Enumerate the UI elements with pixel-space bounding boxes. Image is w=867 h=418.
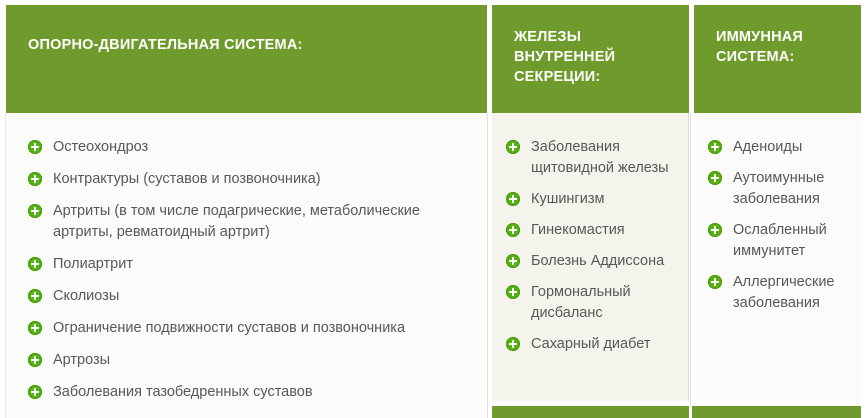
list-item-label: Контрактуры (суставов и позвоночника) [53, 171, 321, 187]
plus-circle-icon [28, 172, 42, 186]
list-item: Кушингизм [506, 189, 678, 210]
list-item-label: Ослабленный иммунитет [733, 222, 827, 259]
bottom-bar-divider [689, 406, 692, 418]
bottom-accent-bar [492, 406, 861, 418]
list-item-label: Артрозы [53, 352, 110, 368]
column-header-immune: ИММУННАЯ СИСТЕМА: [694, 5, 861, 113]
condition-list: Заболевания щитовидной железы Кушингизм … [506, 137, 678, 355]
list-item: Болезнь Аддиссона [506, 251, 678, 272]
list-item-label: Сколиозы [53, 288, 119, 304]
plus-circle-icon [506, 140, 520, 154]
list-item: Остеохондроз [28, 137, 473, 158]
condition-list: Остеохондроз Контрактуры (суставов и поз… [28, 137, 473, 403]
column-divider [487, 113, 488, 418]
list-item-label: Заболевания тазобедренных суставов [53, 384, 313, 400]
plus-circle-icon [506, 223, 520, 237]
column-header-endocrine: ЖЕЛЕЗЫ ВНУТРЕННЕЙ СЕКРЕЦИИ: [492, 5, 689, 113]
list-item-label: Гинекомастия [531, 222, 625, 238]
plus-circle-icon [28, 353, 42, 367]
plus-circle-icon [506, 285, 520, 299]
list-item: Сахарный диабет [506, 334, 678, 355]
list-item-label: Аллергические заболевания [733, 274, 835, 311]
list-item-label: Сахарный диабет [531, 336, 650, 352]
systems-table: ОПОРНО-ДВИГАТЕЛЬНАЯ СИСТЕМА: ЖЕЛЕЗЫ ВНУТ… [0, 0, 867, 418]
plus-circle-icon [708, 275, 722, 289]
list-item-label: Артриты (в том числе подагрические, мета… [53, 203, 420, 240]
column-body-endocrine: Заболевания щитовидной железы Кушингизм … [492, 113, 689, 401]
column-divider [690, 113, 691, 418]
column-body-musculoskeletal: Остеохондроз Контрактуры (суставов и поз… [6, 113, 487, 418]
plus-circle-icon [708, 223, 722, 237]
table-body-row: Остеохондроз Контрактуры (суставов и поз… [0, 113, 867, 418]
list-item-label: Ограничение подвижности суставов и позво… [53, 320, 405, 336]
list-item: Контрактуры (суставов и позвоночника) [28, 169, 473, 190]
list-item: Артриты (в том числе подагрические, мета… [28, 201, 473, 243]
plus-circle-icon [506, 192, 520, 206]
plus-circle-icon [28, 140, 42, 154]
list-item-label: Аденоиды [733, 139, 802, 155]
list-item: Ограничение подвижности суставов и позво… [28, 318, 473, 339]
plus-circle-icon [28, 321, 42, 335]
list-item-label: Гормональный дисбаланс [531, 284, 631, 321]
list-item-label: Заболевания щитовидной железы [531, 139, 669, 176]
column-header-title: ОПОРНО-ДВИГАТЕЛЬНАЯ СИСТЕМА: [28, 27, 469, 55]
column-body-immune: Аденоиды Аутоимунные заболевания Ослабле… [694, 113, 861, 401]
list-item: Артрозы [28, 350, 473, 371]
list-item-label: Кушингизм [531, 191, 604, 207]
list-item-label: Болезнь Аддиссона [531, 253, 664, 269]
plus-circle-icon [28, 385, 42, 399]
list-item: Полиартрит [28, 254, 473, 275]
plus-circle-icon [28, 204, 42, 218]
list-item: Заболевания щитовидной железы [506, 137, 678, 179]
list-item: Аутоимунные заболевания [708, 168, 853, 210]
list-item: Аллергические заболевания [708, 272, 853, 314]
list-item: Заболевания тазобедренных суставов [28, 382, 473, 403]
plus-circle-icon [708, 171, 722, 185]
list-item: Сколиозы [28, 286, 473, 307]
table-header-row: ОПОРНО-ДВИГАТЕЛЬНАЯ СИСТЕМА: ЖЕЛЕЗЫ ВНУТ… [0, 5, 867, 113]
plus-circle-icon [506, 254, 520, 268]
list-item: Ослабленный иммунитет [708, 220, 853, 262]
column-header-musculoskeletal: ОПОРНО-ДВИГАТЕЛЬНАЯ СИСТЕМА: [6, 5, 487, 113]
list-item-label: Остеохондроз [53, 139, 148, 155]
column-header-title: ИММУННАЯ СИСТЕМА: [716, 27, 843, 67]
list-item: Гормональный дисбаланс [506, 282, 678, 324]
plus-circle-icon [506, 337, 520, 351]
plus-circle-icon [708, 140, 722, 154]
plus-circle-icon [28, 289, 42, 303]
list-item-label: Аутоимунные заболевания [733, 170, 824, 207]
plus-circle-icon [28, 257, 42, 271]
column-header-title: ЖЕЛЕЗЫ ВНУТРЕННЕЙ СЕКРЕЦИИ: [514, 27, 671, 87]
list-item: Аденоиды [708, 137, 853, 158]
condition-list: Аденоиды Аутоимунные заболевания Ослабле… [708, 137, 853, 314]
list-item-label: Полиартрит [53, 256, 133, 272]
list-item: Гинекомастия [506, 220, 678, 241]
